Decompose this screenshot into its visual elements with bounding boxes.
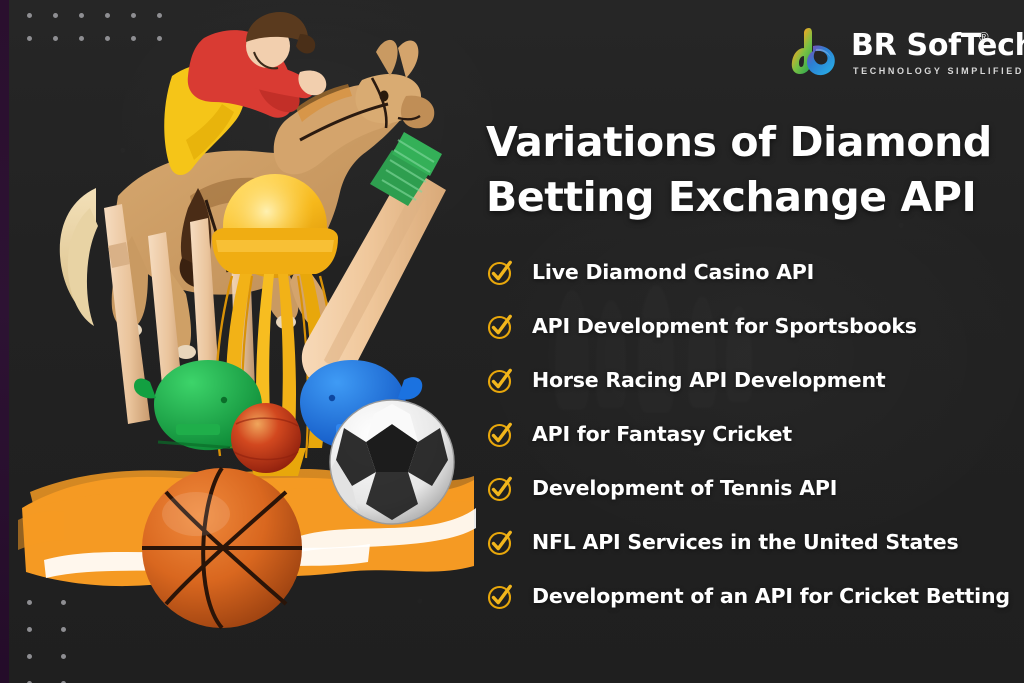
list-item-2[interactable]: API Development for Sportsbooks xyxy=(487,299,1017,353)
list-item-1[interactable]: Live Diamond Casino API xyxy=(487,245,1017,299)
check-circle-icon xyxy=(487,259,514,286)
list-item-5[interactable]: Development of Tennis API xyxy=(487,461,1017,515)
logo-tagline: TECHNOLOGY SIMPLIFIED xyxy=(853,66,1024,76)
page-title-line-1: Variations of Diamond xyxy=(486,115,1006,170)
list-item-3[interactable]: Horse Racing API Development xyxy=(487,353,1017,407)
br-softech-logo[interactable]: BR SofTech ® TECHNOLOGY SIMPLIFIED xyxy=(789,22,1011,88)
list-item-label: API for Fantasy Cricket xyxy=(532,422,792,446)
basketball xyxy=(142,468,302,628)
page-title-line-2: Betting Exchange API xyxy=(486,170,1006,225)
br-softech-b-logo-icon xyxy=(789,24,845,80)
check-circle-icon xyxy=(487,475,514,502)
list-item-label: NFL API Services in the United States xyxy=(532,530,958,554)
list-item-7[interactable]: Development of an API for Cricket Bettin… xyxy=(487,569,1017,623)
list-item-4[interactable]: API for Fantasy Cricket xyxy=(487,407,1017,461)
list-item-label: Development of an API for Cricket Bettin… xyxy=(532,584,1010,608)
check-circle-icon xyxy=(487,529,514,556)
promo-banner: BR SofTech ® TECHNOLOGY SIMPLIFIED Varia… xyxy=(0,0,1024,683)
list-item-label: Live Diamond Casino API xyxy=(532,260,814,284)
page-title: Variations of Diamond Betting Exchange A… xyxy=(486,115,1006,224)
red-cricket-ball xyxy=(231,403,301,473)
sports-collage-illustration xyxy=(0,0,480,683)
check-circle-icon xyxy=(487,583,514,610)
check-circle-icon xyxy=(487,421,514,448)
logo-wordmark: BR SofTech xyxy=(851,28,1024,63)
registered-trademark-icon: ® xyxy=(979,30,989,43)
check-circle-icon xyxy=(487,313,514,340)
feature-list: Live Diamond Casino API API Development … xyxy=(487,245,1017,623)
soccer-ball xyxy=(330,400,454,524)
list-item-label: API Development for Sportsbooks xyxy=(532,314,917,338)
check-circle-icon xyxy=(487,367,514,394)
list-item-6[interactable]: NFL API Services in the United States xyxy=(487,515,1017,569)
list-item-label: Horse Racing API Development xyxy=(532,368,885,392)
list-item-label: Development of Tennis API xyxy=(532,476,837,500)
